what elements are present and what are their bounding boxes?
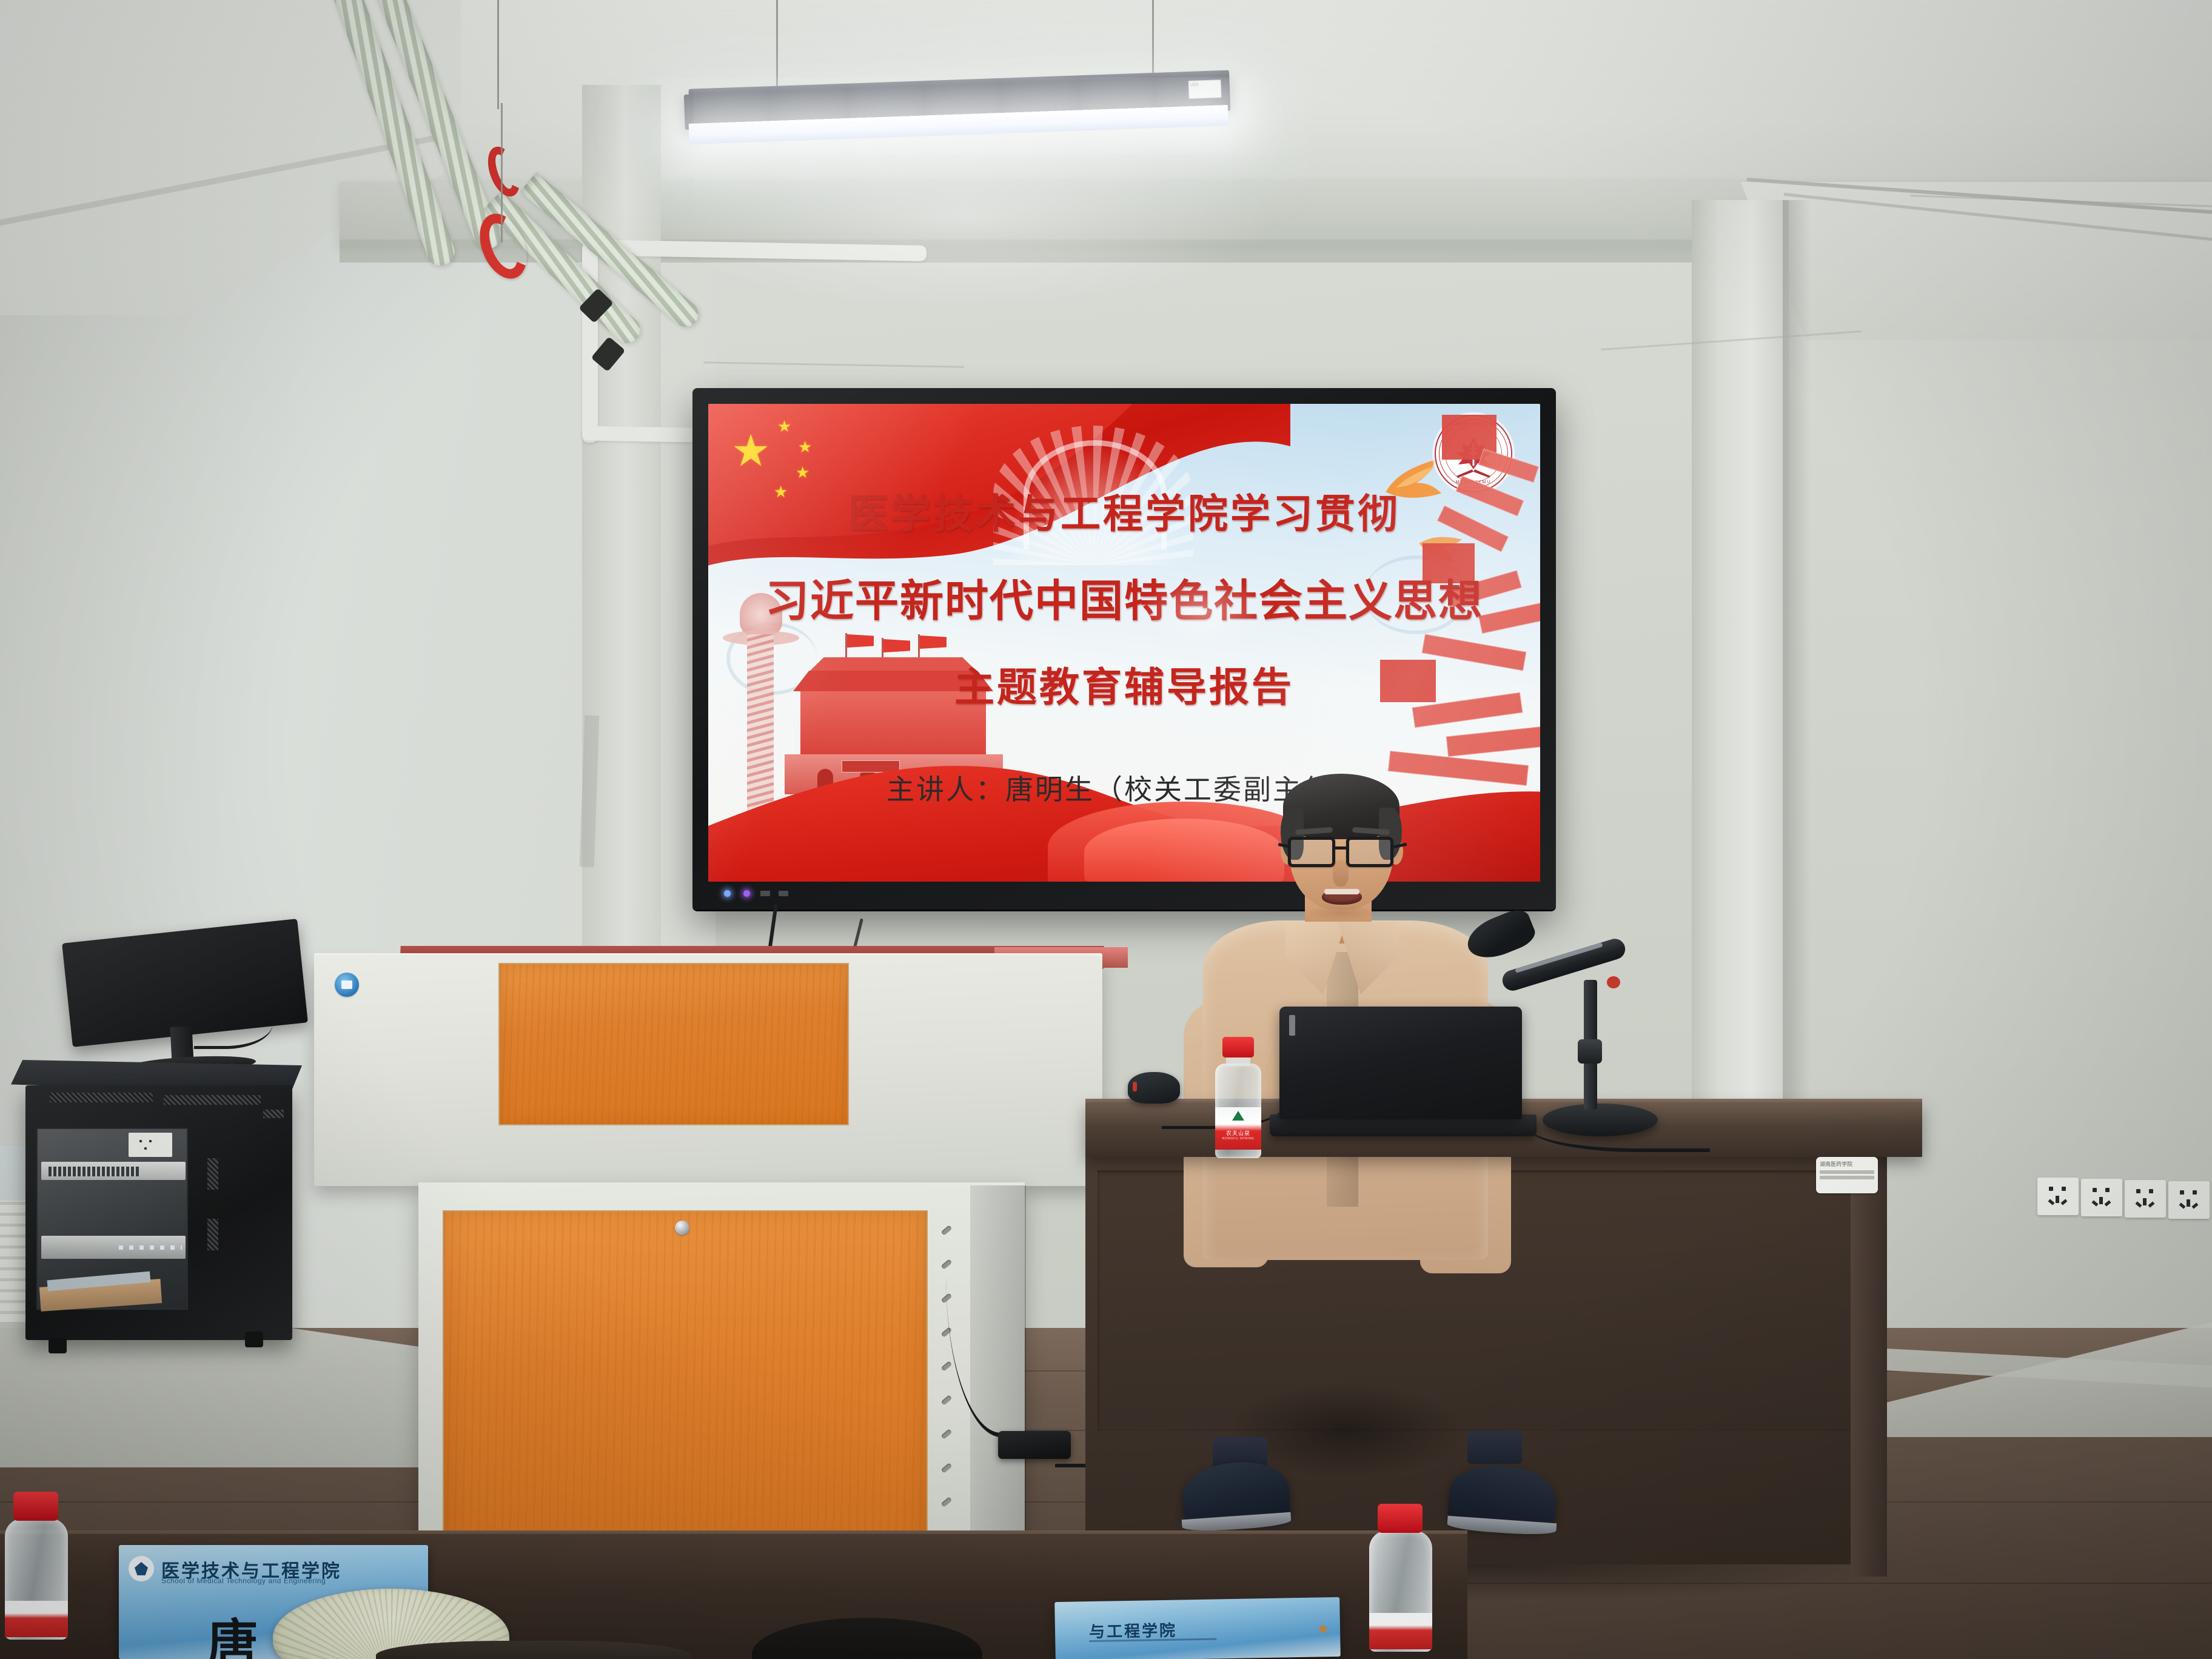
light-label: LED: [1188, 79, 1222, 99]
laptop-brand-logo: [1289, 1015, 1295, 1036]
desk-asset-label: 湖南医药学院: [1816, 1157, 1878, 1193]
foreground-bottle-cap-right[interactable]: [1378, 1504, 1423, 1533]
av-matrix-device: [41, 1236, 186, 1259]
name-card-department-en: School of Medical Technology and Enginee…: [161, 1577, 326, 1585]
lectern-wood-panel-upper: [498, 963, 849, 1125]
power-socket-2[interactable]: [2081, 1179, 2122, 1216]
presenter-nose: [1333, 860, 1349, 886]
wall-step-8: [1446, 726, 1540, 757]
foreground-bottle-cap-left[interactable]: [13, 1492, 58, 1521]
flag-star-large: ★: [731, 429, 771, 473]
microphone-capsule: [1461, 905, 1538, 965]
rack-caster-left: [49, 1338, 67, 1353]
bottle-brand-en: NONGFU SPRING: [1215, 1137, 1261, 1141]
switch-port-bank: [49, 1167, 139, 1176]
slide-title-line-1: 医学技术与工程学院学习贯彻: [708, 495, 1540, 535]
rack-caster-right: [245, 1332, 263, 1347]
foreground-bottle-label-left: [5, 1601, 68, 1637]
microphone-joint: [1578, 1039, 1602, 1064]
presenter-teeth: [1324, 889, 1359, 894]
flag-star-small-2: ★: [798, 439, 812, 455]
slide-title-block: 医学技术与工程学院学习贯彻 习近平新时代中国特色社会主义思想 主题教育辅导报告: [708, 495, 1540, 708]
status-led-purple: [743, 890, 750, 897]
pipe-hanger-rod: [497, 0, 499, 109]
power-led-blue: [724, 890, 731, 897]
device-status-leds: [119, 1245, 182, 1250]
lectern-asset-sticker: [335, 973, 359, 997]
power-socket-3[interactable]: [2125, 1180, 2166, 1218]
foreground-water-bottle-left[interactable]: [0, 1492, 73, 1637]
bottle-label: 农夫山泉 NONGFU SPRING: [1215, 1107, 1261, 1150]
name-card-secondary-dot: [1319, 1625, 1327, 1632]
slide-title-line-2: 习近平新时代中国特色社会主义思想: [708, 580, 1540, 623]
usb-port-1[interactable]: [760, 891, 770, 896]
foreground-bottle-label-right: [1369, 1613, 1432, 1649]
name-card-secondary: 与工程学院: [1054, 1597, 1341, 1659]
flag-star-small-1: ★: [777, 418, 791, 434]
usb-port-2[interactable]: [779, 891, 788, 896]
flag-star-small-3: ★: [796, 464, 809, 480]
rack-monitor[interactable]: [67, 931, 303, 1070]
lecture-hall-photo: LED ★ ★ ★ ★ ★: [0, 0, 2212, 1659]
network-switch: [41, 1162, 186, 1180]
name-card-logo-icon: [129, 1556, 154, 1581]
eyeglass-lens-left: [1288, 837, 1335, 867]
eyeglass-bridge: [1335, 846, 1349, 850]
bottle-cap[interactable]: [1222, 1037, 1254, 1057]
trouser-cuff-right: [1467, 1431, 1522, 1464]
power-socket-4[interactable]: [2168, 1181, 2210, 1219]
desk-right-leg: [1851, 1152, 1887, 1577]
eyeglass-temple-right: [1393, 843, 1407, 848]
eyeglass-lens-right: [1346, 837, 1393, 867]
foreground-audience-shoulder: [376, 1641, 691, 1659]
slide-title-line-3: 主题教育辅导报告: [708, 668, 1540, 708]
bottle-brand-mark: [1232, 1111, 1244, 1121]
microphone-tip-indicator: [1607, 976, 1620, 988]
wall-socket-group: [2037, 1176, 2212, 1219]
foreground-water-bottle-right[interactable]: [1364, 1504, 1437, 1649]
lectern-lock-icon[interactable]: [675, 1221, 689, 1235]
presenter-chin-shadow: [1305, 905, 1378, 920]
bottle-brand-zh: 农夫山泉: [1215, 1129, 1261, 1137]
power-socket-1[interactable]: [2037, 1178, 2079, 1215]
water-bottle-on-desk[interactable]: 农夫山泉 NONGFU SPRING: [1213, 1037, 1264, 1158]
rack-power-outlet[interactable]: [129, 1133, 172, 1157]
pipe-hanger-rod-lower: [501, 103, 503, 243]
wall-step-1: [1478, 449, 1539, 483]
